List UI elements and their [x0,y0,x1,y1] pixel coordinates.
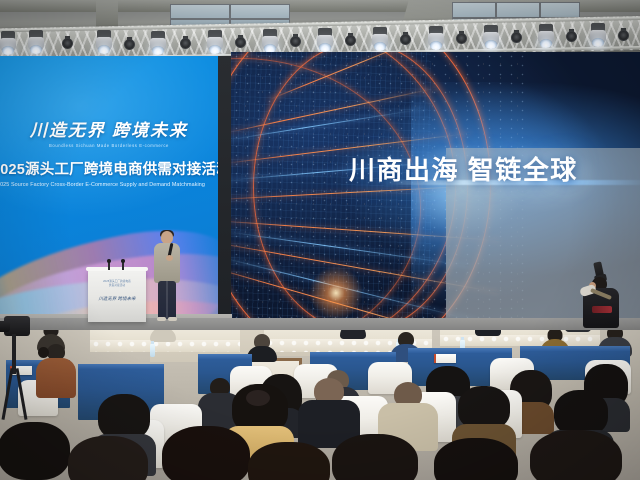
attendee-foreground [432,438,520,480]
par-light [566,29,577,42]
attendee-hair [68,436,148,480]
moving-head-light [207,30,223,54]
attendee-hair [162,426,250,480]
moving-head-light [538,24,554,48]
presenter [152,231,182,321]
main-screen-headline: 川商出海 智链全球 [349,150,578,187]
moving-head-light [590,23,606,47]
attendee-hair [0,422,70,480]
lectern-microphone [122,261,124,270]
moving-head-light [0,31,16,55]
lectern: 2025源头工厂跨境电商 供需对接活动 川造无界 跨境未来 [88,270,146,322]
presenter-hand [166,255,173,261]
lectern-signature: 川造无界 跨境未来 [88,296,146,302]
attendee-hair [248,442,330,480]
attendee [36,344,76,396]
press-photographer [578,262,622,328]
attendee-hair [434,438,518,480]
presenter-shoe [157,317,166,321]
event-slogan-cn: 川造无界 跨境未来 [0,116,218,141]
moving-head-light [483,25,499,49]
event-title-en: 2025 Source Factory Cross-Border E-Comme… [0,182,210,188]
attendee-foreground [330,434,420,480]
attendee-torso [36,358,76,398]
camera-lens [0,321,10,332]
moving-head-light [317,28,333,52]
audience-area [0,330,640,480]
lectern-text-line2: 供需对接活动 [88,283,146,287]
moving-head-light [262,29,278,53]
attendee [150,330,176,338]
attendee-hair [530,430,622,480]
par-light [400,32,411,45]
attendee-foreground [160,426,252,480]
par-light [290,34,301,47]
par-light [124,37,135,50]
attendee-foreground [246,442,332,480]
jacket-graphic [592,306,612,313]
event-slogan-en: Boundless Sichuan Made Borderless E-comm… [0,143,218,148]
moving-head-light [372,27,388,51]
lectern-microphone [108,261,110,270]
par-light [618,28,629,41]
moving-head-light [428,26,444,50]
hair-scrunchie [246,390,270,406]
par-light [62,36,73,49]
par-light [511,30,522,43]
attendee-foreground [528,430,624,480]
presenter-shoe [168,317,177,321]
tripod-leg [16,368,28,420]
tripod-leg [2,368,14,420]
moving-head-light [96,30,112,54]
attendee-foreground [0,422,72,480]
left-panel-text-block: 川造无界 跨境未来 Boundless Sichuan Made Borderl… [0,116,218,188]
name-card [434,354,456,363]
par-light [180,36,191,49]
attendee [340,330,366,336]
event-title-cn: 2025源头工厂跨境电商供需对接活动 [0,158,210,179]
water-bottle [150,344,155,357]
lectern-top [86,267,148,271]
attendee-torso [475,330,501,336]
attendee-hair [332,434,418,480]
attendee-torso [340,330,366,339]
par-light [235,35,246,48]
moving-head-light [150,31,166,55]
conference-photo-scene: 川造无界 跨境未来 Boundless Sichuan Made Borderl… [0,0,640,480]
par-light [456,31,467,44]
presenter-torso [154,243,180,283]
moving-head-light [28,30,44,54]
screen-light-burst [309,266,363,320]
par-light [345,33,356,46]
attendee [475,330,501,334]
presenter-legs [158,281,176,319]
attendee-foreground [66,436,150,480]
video-camera-rig [0,316,40,426]
